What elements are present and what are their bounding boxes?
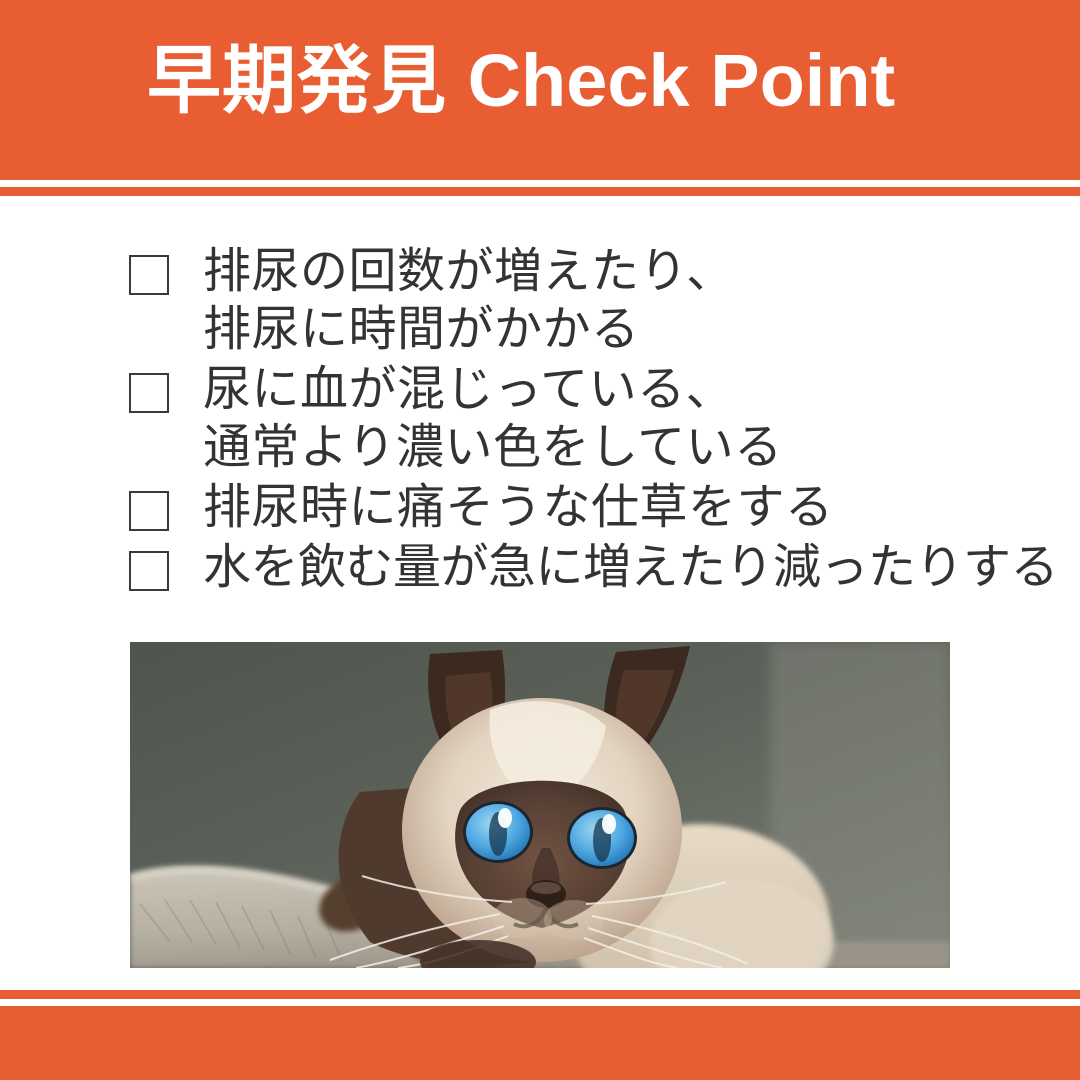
checklist-item-1-line1: 排尿の回数が増えたり、 [203,245,735,298]
checkbox-icon-3[interactable] [129,491,169,531]
header-band: 早期発見 Check Point [0,0,1080,180]
checklist-item-2-line1: 尿に血が混じっている、 [203,363,734,416]
infographic-canvas: 早期発見 Check Point 排尿の回数が増えたり、 排尿に時間がかかる 尿… [0,0,1080,1080]
page-title-jp: 早期発見 [147,39,447,122]
checklist-item-3[interactable]: 排尿時に痛そうな仕草をする [129,479,1049,537]
checklist-item-2-line2: 通常より濃い色をしている [203,419,1049,477]
page-title-en-text: Check Point [468,39,896,122]
checklist-item-3-text: 排尿時に痛そうな仕草をする [203,479,1049,537]
divider-bottom [0,990,1080,999]
checkbox-icon-1[interactable] [129,255,169,295]
checklist: 排尿の回数が増えたり、 排尿に時間がかかる 尿に血が混じっている、 通常より濃い… [129,243,1049,599]
page-title-en [447,39,468,122]
cat-photo-illustration [130,642,950,968]
footer-band [0,1006,1080,1080]
divider-top [0,187,1080,196]
cat-left-eye [463,801,533,863]
page-title: 早期発見 Check Point [147,44,895,118]
checklist-item-1[interactable]: 排尿の回数が増えたり、 排尿に時間がかかる [129,243,1049,359]
cat-right-eye [567,807,637,869]
checklist-item-2-text: 尿に血が混じっている、 通常より濃い色をしている [203,361,1049,477]
checklist-item-1-line2: 排尿に時間がかかる [203,301,1049,359]
checkbox-icon-2[interactable] [129,373,169,413]
checklist-item-1-text: 排尿の回数が増えたり、 排尿に時間がかかる [203,243,1049,359]
checkbox-icon-4[interactable] [129,551,169,591]
cat-photo [130,642,950,968]
checklist-item-4-text: 水を飲む量が急に増えたり減ったりする [203,539,1058,597]
checklist-item-4[interactable]: 水を飲む量が急に増えたり減ったりする [129,539,1049,597]
checklist-item-2[interactable]: 尿に血が混じっている、 通常より濃い色をしている [129,361,1049,477]
